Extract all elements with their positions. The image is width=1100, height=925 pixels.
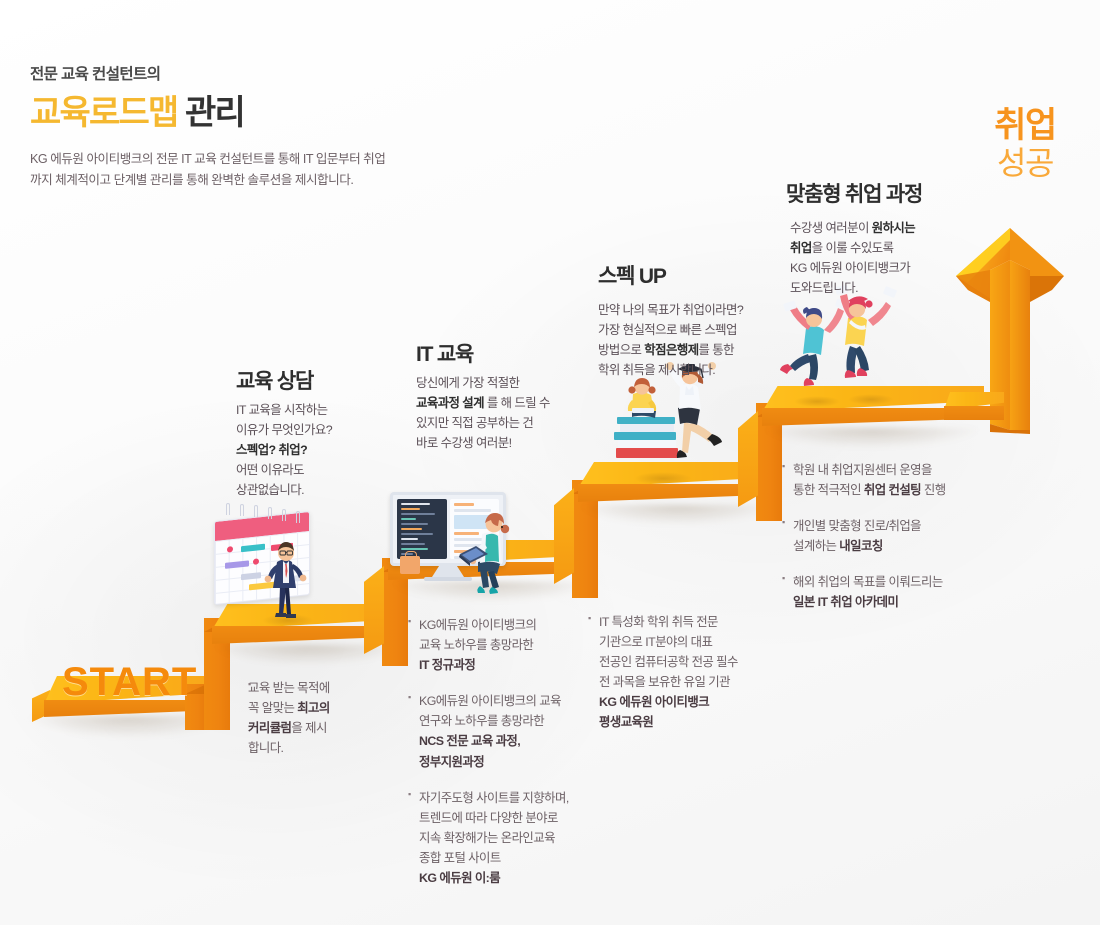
bullet-item: 학원 내 취업지원센터 운영을통한 적극적인 취업 컨설팅 진행 [782,460,982,500]
step-title-it-education: IT 교육 [416,338,473,368]
bullet-item: KG에듀원 아이티뱅크의 교육연구와 노하우를 총망라한NCS 전문 교육 과정… [408,691,594,771]
header-description: KG 에듀원 아이티뱅크의 전문 IT 교육 컨설턴트를 통해 IT 입문부터 … [30,149,390,192]
bullet-item: 개인별 맞춤형 진로/취업을설계하는 내일코칭 [782,516,982,556]
step-bullets-it-education: KG에듀원 아이티뱅크의교육 노하우를 총망라한IT 정규과정 KG에듀원 아이… [408,615,594,904]
note-item: 교육 받는 목적에꼭 알맞는 최고의커리큘럼을 제시합니다. [248,678,388,758]
header-kicker: 전문 교육 컨설턴트의 [30,66,390,85]
header-block: 전문 교육 컨설턴트의 교육로드맵 관리 KG 에듀원 아이티뱅크의 전문 IT… [30,66,390,192]
goal-line-2: 성공 [970,147,1080,179]
bullet-item: 자기주도형 사이트를 지향하며,트렌드에 따라 다양한 분야로지속 확장해가는 … [408,788,594,888]
jumping-figure-right [824,290,902,392]
step-title-consult: 교육 상담 [236,365,313,395]
bullet-item: 해외 취업의 목표를 이뤄드리는일본 IT 취업 아카데미 [782,572,982,612]
page-title: 교육로드맵 관리 [30,94,390,133]
goal-label: 취업 성공 [970,108,1080,179]
goal-line-1: 취업 [970,108,1080,143]
step-lead-consult: IT 교육을 시작하는이유가 무엇인가요?스펙업? 취업?어떤 이유라도상관없습… [236,400,396,500]
step-title-employment: 맞춤형 취업 과정 [786,178,922,208]
bag-icon [400,556,420,574]
step-start-notes: 교육 받는 목적에꼭 알맞는 최고의커리큘럼을 제시합니다. [248,678,388,774]
start-label: START [62,660,197,705]
step-title-spec-up: 스펙 UP [598,260,666,290]
infographic-canvas: 전문 교육 컨설턴트의 교육로드맵 관리 KG 에듀원 아이티뱅크의 전문 IT… [0,0,1100,925]
code-editor-pane [397,499,447,559]
bullet-item: KG에듀원 아이티뱅크의교육 노하우를 총망라한IT 정규과정 [408,615,594,675]
calendar-with-consultant-illustration [214,508,330,620]
seated-student-figure [466,510,522,596]
step-lead-it-education: 당신에게 가장 적절한교육과정 설계 를 해 드릴 수있지만 직접 공부하는 건… [416,373,596,453]
page-title-highlight: 교육로드맵 [30,94,177,132]
consultant-figure [260,534,312,622]
step-lead-employment: 수강생 여러분이 원하시는취업을 이룰 수있도록KG 에듀원 아이티뱅크가도와드… [790,218,980,298]
bullet-item: IT 특성화 학위 취득 전문기관으로 IT분야의 대표전공인 컴퓨터공학 전공… [588,612,782,733]
step-bullets-employment: 학원 내 취업지원센터 운영을통한 적극적인 취업 컨설팅 진행 개인별 맞춤형… [782,460,982,629]
jumping-graduates-illustration [782,284,902,390]
step-bullets-spec-up: IT 특성화 학위 취득 전문기관으로 IT분야의 대표전공인 컴퓨터공학 전공… [588,612,782,749]
step-lead-spec-up: 만약 나의 목표가 취업이라면?가장 현실적으로 빠른 스펙업방법으로 학점은행… [598,300,778,380]
monitor-with-student-illustration [390,492,516,592]
page-title-rest: 관리 [177,94,244,132]
